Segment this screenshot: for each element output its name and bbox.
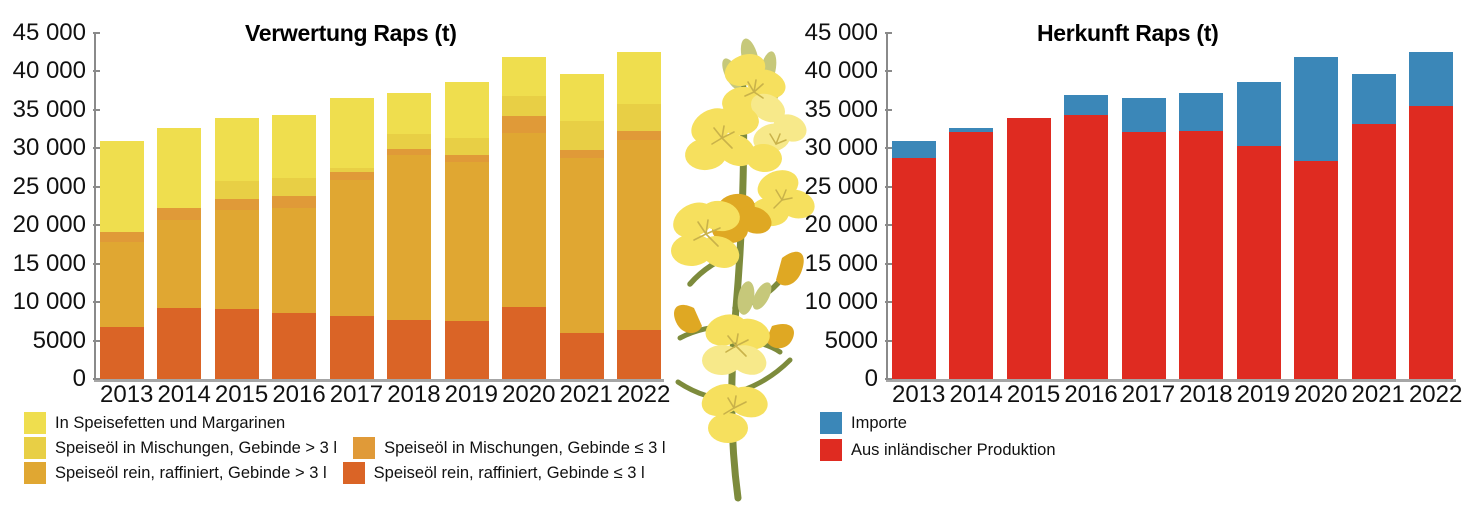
chart-panel-verwertung: Verwertung Raps (t) 45 00040 00035 00030… <box>0 0 700 506</box>
bar-segment <box>272 196 316 208</box>
bar-verwertung-2017[interactable] <box>330 33 374 379</box>
bar-segment <box>100 141 144 232</box>
bar-segment <box>1122 98 1166 133</box>
legend-row-inlaendisch: Aus inländischer Produktion <box>820 439 1056 461</box>
bar-segment <box>445 155 489 162</box>
bar-segment <box>1064 95 1108 114</box>
x-tick-label-left-2021: 2021 <box>560 382 604 408</box>
bar-segment <box>1409 106 1453 379</box>
bar-segment <box>157 128 201 208</box>
legend-item-rein-gross[interactable]: Speiseöl rein, raffiniert, Gebinde > 3 l <box>24 462 327 484</box>
x-tick-label-right-2021: 2021 <box>1352 382 1396 408</box>
bar-segment <box>215 118 259 181</box>
y-tick-label-left-30000: 30 000 <box>13 136 86 160</box>
bar-segment <box>502 96 546 116</box>
x-tick-label-right-2022: 2022 <box>1409 382 1453 408</box>
bar-verwertung-2014[interactable] <box>157 33 201 379</box>
y-tick-label-left-10000: 10 000 <box>13 290 86 314</box>
y-tick-label-left-20000: 20 000 <box>13 213 86 237</box>
legend-label-rein-gross: Speiseöl rein, raffiniert, Gebinde > 3 l <box>55 462 327 484</box>
bar-segment <box>100 232 144 242</box>
legend-item-importe[interactable]: Importe <box>820 412 907 434</box>
bar-segment <box>502 116 546 132</box>
bar-segment <box>560 158 604 333</box>
bar-segment <box>1179 131 1223 379</box>
bar-verwertung-2013[interactable] <box>100 33 144 379</box>
bar-verwertung-2020[interactable] <box>502 33 546 379</box>
bar-segment <box>560 74 604 122</box>
legend-swatch-mischungen-klein <box>353 437 375 459</box>
bar-segment <box>215 181 259 199</box>
bar-herkunft-2019[interactable] <box>1237 33 1281 379</box>
bars-verwertung <box>96 33 664 379</box>
y-tick-label-left-0: 0 <box>73 367 86 391</box>
bar-segment <box>215 199 259 210</box>
bar-segment <box>272 313 316 379</box>
bar-segment <box>100 327 144 379</box>
bar-segment <box>560 121 604 149</box>
bar-herkunft-2018[interactable] <box>1179 33 1223 379</box>
legend-swatch-rein-klein <box>343 462 365 484</box>
x-tick-label-left-2017: 2017 <box>330 382 374 408</box>
y-tick-label-left-25000: 25 000 <box>13 175 86 199</box>
x-tick-label-left-2019: 2019 <box>445 382 489 408</box>
y-tick-label-right-30000: 30 000 <box>805 136 878 160</box>
bar-herkunft-2020[interactable] <box>1294 33 1338 379</box>
bar-verwertung-2019[interactable] <box>445 33 489 379</box>
bar-segment <box>502 307 546 379</box>
legend-swatch-inlaendisch <box>820 439 842 461</box>
plot-area-verwertung: 45 00040 00035 00030 00025 00020 00015 0… <box>94 33 664 379</box>
x-tick-label-right-2015: 2015 <box>1007 382 1051 408</box>
legend-item-inlaendisch[interactable]: Aus inländischer Produktion <box>820 439 1056 461</box>
y-tick-label-left-35000: 35 000 <box>13 98 86 122</box>
bar-segment <box>215 210 259 310</box>
bar-herkunft-2022[interactable] <box>1409 33 1453 379</box>
legend-row-3: Speiseöl rein, raffiniert, Gebinde > 3 l… <box>24 462 714 484</box>
bar-herkunft-2016[interactable] <box>1064 33 1108 379</box>
legend-swatch-mischungen-gross <box>24 437 46 459</box>
y-tick-label-right-20000: 20 000 <box>805 213 878 237</box>
bar-segment <box>330 172 374 180</box>
bar-segment <box>387 155 431 320</box>
bar-segment <box>1352 74 1396 124</box>
bar-segment <box>387 320 431 379</box>
y-tick-label-right-5000: 5000 <box>825 329 878 353</box>
bar-segment <box>272 178 316 196</box>
x-tick-label-right-2017: 2017 <box>1122 382 1166 408</box>
x-tick-label-right-2020: 2020 <box>1294 382 1338 408</box>
bar-herkunft-2015[interactable] <box>1007 33 1051 379</box>
x-tick-label-left-2020: 2020 <box>502 382 546 408</box>
bar-segment <box>387 93 431 134</box>
bar-verwertung-2018[interactable] <box>387 33 431 379</box>
bar-segment <box>272 115 316 178</box>
y-tick-label-right-15000: 15 000 <box>805 252 878 276</box>
bar-verwertung-2021[interactable] <box>560 33 604 379</box>
legend-row-2: Speiseöl in Mischungen, Gebinde > 3 l Sp… <box>24 437 714 459</box>
infographic-root: Verwertung Raps (t) 45 00040 00035 00030… <box>0 0 1466 506</box>
bar-segment <box>502 133 546 308</box>
bar-segment <box>560 150 604 158</box>
y-tick-label-left-5000: 5000 <box>33 329 86 353</box>
x-axis-labels-left: 2013201420152016201720182019202020212022 <box>96 382 664 408</box>
bar-segment <box>445 321 489 379</box>
bar-segment <box>560 333 604 379</box>
legend-row-importe: Importe <box>820 412 1056 434</box>
legend-item-mischungen-klein[interactable]: Speiseöl in Mischungen, Gebinde ≤ 3 l <box>353 437 665 459</box>
y-tick-label-right-35000: 35 000 <box>805 98 878 122</box>
x-tick-label-right-2016: 2016 <box>1064 382 1108 408</box>
bar-herkunft-2017[interactable] <box>1122 33 1166 379</box>
legend-label-importe: Importe <box>851 412 907 434</box>
x-tick-label-right-2014: 2014 <box>949 382 993 408</box>
bar-segment <box>1409 52 1453 106</box>
bars-herkunft <box>888 33 1456 379</box>
y-tick-label-right-0: 0 <box>865 367 878 391</box>
rapeseed-flower-illustration <box>650 8 830 506</box>
bar-segment <box>157 208 201 220</box>
x-tick-label-left-2013: 2013 <box>100 382 144 408</box>
legend-item-mischungen-gross[interactable]: Speiseöl in Mischungen, Gebinde > 3 l <box>24 437 337 459</box>
legend-label-inlaendisch: Aus inländischer Produktion <box>851 439 1056 461</box>
bar-segment <box>1122 132 1166 379</box>
y-tick-label-right-40000: 40 000 <box>805 59 878 83</box>
legend-item-speisefette[interactable]: In Speisefetten und Margarinen <box>24 412 285 434</box>
bar-segment <box>892 158 936 379</box>
bar-segment <box>1064 115 1108 379</box>
bar-segment <box>445 82 489 138</box>
legend-herkunft: Importe Aus inländischer Produktion <box>820 412 1056 466</box>
bar-herkunft-2021[interactable] <box>1352 33 1396 379</box>
bar-verwertung-2016[interactable] <box>272 33 316 379</box>
bar-segment <box>1237 82 1281 146</box>
bar-segment <box>157 220 201 308</box>
legend-swatch-speisefette <box>24 412 46 434</box>
y-tick-label-left-40000: 40 000 <box>13 59 86 83</box>
rapeseed-flower-icon <box>650 8 830 506</box>
legend-swatch-rein-gross <box>24 462 46 484</box>
x-tick-label-left-2016: 2016 <box>272 382 316 408</box>
y-tick-label-right-45000: 45 000 <box>805 21 878 45</box>
legend-label-rein-klein: Speiseöl rein, raffiniert, Gebinde ≤ 3 l <box>374 462 645 484</box>
x-tick-label-right-2018: 2018 <box>1179 382 1223 408</box>
y-tick-label-left-15000: 15 000 <box>13 252 86 276</box>
bar-segment <box>1294 57 1338 162</box>
plot-area-herkunft: 45 00040 00035 00030 00025 00020 00015 0… <box>886 33 1456 379</box>
y-tick-label-left-45000: 45 000 <box>13 21 86 45</box>
bar-segment <box>272 208 316 313</box>
legend-verwertung: In Speisefetten und Margarinen Speiseöl … <box>24 412 714 487</box>
bar-segment <box>949 132 993 379</box>
bar-segment <box>445 162 489 320</box>
legend-item-rein-klein[interactable]: Speiseöl rein, raffiniert, Gebinde ≤ 3 l <box>343 462 645 484</box>
legend-label-mischungen-gross: Speiseöl in Mischungen, Gebinde > 3 l <box>55 437 337 459</box>
x-tick-label-left-2018: 2018 <box>387 382 431 408</box>
legend-swatch-importe <box>820 412 842 434</box>
x-tick-label-right-2019: 2019 <box>1237 382 1281 408</box>
legend-label-mischungen-klein: Speiseöl in Mischungen, Gebinde ≤ 3 l <box>384 437 665 459</box>
bar-segment <box>1179 93 1223 131</box>
legend-label-speisefette: In Speisefetten und Margarinen <box>55 412 285 434</box>
y-tick-label-right-10000: 10 000 <box>805 290 878 314</box>
x-axis-labels-right: 2013201420152016201720182019202020212022 <box>888 382 1456 408</box>
bar-segment <box>892 141 936 158</box>
bar-segment <box>1294 161 1338 379</box>
bar-segment <box>330 98 374 169</box>
bar-verwertung-2015[interactable] <box>215 33 259 379</box>
bar-segment <box>1237 146 1281 379</box>
bar-segment <box>445 138 489 155</box>
bar-segment <box>330 180 374 316</box>
bar-segment <box>502 57 546 97</box>
x-tick-label-left-2015: 2015 <box>215 382 259 408</box>
x-tick-label-right-2013: 2013 <box>892 382 936 408</box>
bar-segment <box>330 316 374 379</box>
bar-segment <box>157 308 201 379</box>
bar-herkunft-2014[interactable] <box>949 33 993 379</box>
bar-herkunft-2013[interactable] <box>892 33 936 379</box>
bar-segment <box>387 134 431 149</box>
bar-segment <box>1007 118 1051 379</box>
bar-segment <box>215 309 259 379</box>
x-tick-label-left-2014: 2014 <box>157 382 201 408</box>
bar-segment <box>100 242 144 327</box>
bar-segment <box>1352 124 1396 379</box>
legend-row-1: In Speisefetten und Margarinen <box>24 412 714 434</box>
y-tick-label-right-25000: 25 000 <box>805 175 878 199</box>
